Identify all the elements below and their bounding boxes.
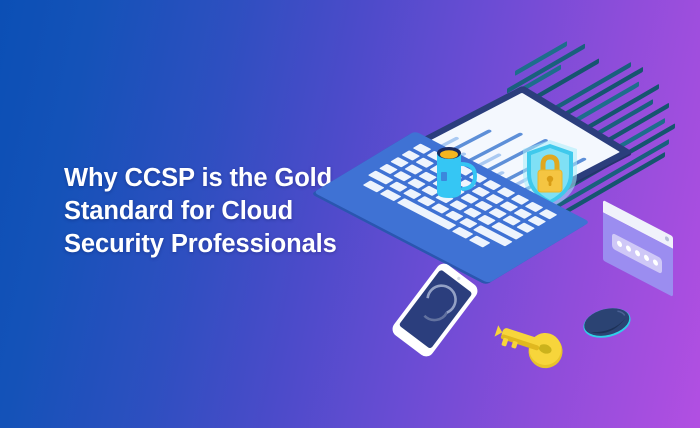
- computer-mouse-icon: [580, 302, 634, 344]
- close-icon[interactable]: [665, 236, 669, 243]
- golden-key-icon: [490, 315, 570, 373]
- coffee-mug-icon: [433, 140, 479, 202]
- cloud-security-illustration: [395, 40, 700, 410]
- password-input[interactable]: [612, 233, 662, 275]
- page-title-line-2: Standard for Cloud: [64, 195, 364, 228]
- password-dialog[interactable]: [603, 200, 673, 297]
- promo-banner: Why CCSP is the Gold Standard for Cloud …: [0, 0, 700, 428]
- page-title-line-3: Security Professionals: [64, 228, 364, 261]
- page-title: Why CCSP is the Gold Standard for Cloud …: [64, 162, 364, 261]
- smartphone-icon: [388, 259, 482, 361]
